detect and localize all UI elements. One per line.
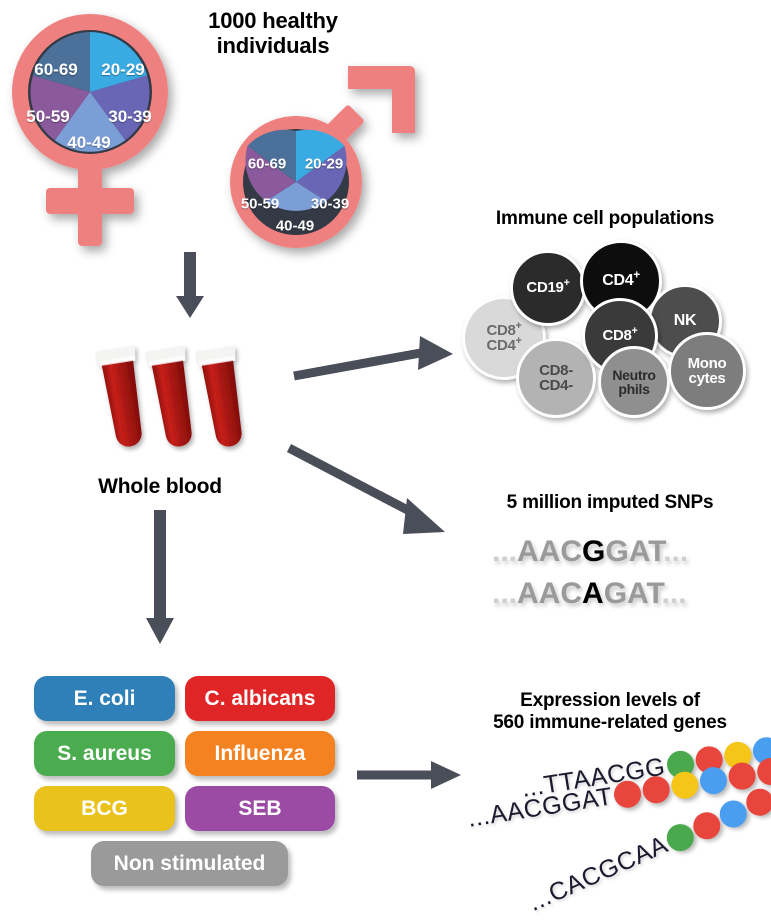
snp-1-variant: G [582,535,605,568]
snp-1-lead: ... [492,535,517,568]
snp-2-tail: ... [661,577,686,610]
snp-1-post: GAT [605,535,663,568]
snp-2-lead: ... [492,577,517,610]
female-age-label-50-59: 50-59 [26,107,69,127]
male-age-label-60-69: 60-69 [248,156,286,173]
female-age-label-20-29: 20-29 [101,60,144,80]
blood-tubes [95,338,255,458]
arrow-stimulations-to-expression [355,755,465,795]
snp-sequence-1: ...AACGGAT... [492,535,688,569]
stimulation-c-albicans[interactable]: C. albicans [185,676,335,721]
cell-label-nk: NK [674,313,697,329]
cell-label-cd8pos: CD8+ [602,328,637,343]
bead-blue [698,765,729,796]
male-age-label-30-39: 30-39 [311,196,349,213]
cohort-title-line-2: individuals [178,33,368,58]
bead-red [612,779,643,810]
immune-cell-cluster: CD8+CD4+ CD8-CD4- CD19+ CD4+ NK CD8+ Neu… [450,240,770,420]
cohort-title: 1000 healthy individuals [178,8,368,58]
stimulation-non-stimulated[interactable]: Non stimulated [91,841,288,886]
snps-title: 5 million imputed SNPs [460,492,760,514]
male-symbol: 20-29 30-39 40-49 50-59 60-69 [196,60,428,260]
bead-yellow [670,770,701,801]
bead-red [727,761,758,792]
snp-2-variant: A [582,577,604,610]
cell-label-cd19pos: CD19+ [526,280,569,295]
snp-sequence-2: ...AACAGAT... [492,577,686,611]
cell-cd19pos: CD19+ [510,250,586,326]
whole-blood-label: Whole blood [70,475,250,499]
snp-1-pre: AAC [517,535,582,568]
stimulation-s-aureus[interactable]: S. aureus [34,731,175,776]
arrow-blood-to-stimulations [130,510,190,650]
expression-title-line-2: 560 immune-related genes [455,712,765,734]
female-age-label-40-49: 40-49 [67,133,110,153]
immune-title: Immune cell populations [450,208,760,230]
cohort-title-line-1: 1000 healthy [178,8,368,33]
expression-title-line-1: Expression levels of [455,690,765,712]
male-age-label-50-59: 50-59 [241,196,279,213]
stimulation-seb[interactable]: SEB [185,786,335,831]
cell-label-neutrophils: Neutrophils [612,368,655,397]
bead-red [641,774,672,805]
stimulation-e-coli[interactable]: E. coli [34,676,175,721]
study-design-diagram: 1000 healthy individuals [0,0,771,922]
snp-2-pre: AAC [517,577,582,610]
stimulation-bcg[interactable]: BCG [34,786,175,831]
female-symbol: 20-29 30-39 40-49 50-59 60-69 [6,12,192,252]
cell-label-cd8neg-cd4neg: CD8-CD4- [539,363,573,394]
cell-monocytes: Monocytes [668,332,746,410]
male-age-label-40-49: 40-49 [276,218,314,235]
cell-label-cd8pos-cd4pos: CD8+CD4+ [486,323,521,354]
female-age-label-30-39: 30-39 [108,107,151,127]
venus-glyph [6,12,192,252]
expression-strand-3-sequence: ...CACGCAA [524,830,672,917]
test-tubes-icon [95,338,255,458]
arrow-blood-to-snps [285,440,465,550]
expression-title: Expression levels of 560 immune-related … [455,690,765,733]
female-age-label-60-69: 60-69 [34,60,77,80]
cell-neutrophils: Neutrophils [598,346,670,418]
snp-1-tail: ... [663,535,688,568]
arrow-blood-to-immune [290,330,460,390]
arrow-cohort-to-blood [160,252,220,322]
snp-2-post: GAT [604,577,662,610]
male-age-label-20-29: 20-29 [305,156,343,173]
cell-label-monocytes: Monocytes [688,356,727,387]
stimulation-influenza[interactable]: Influenza [185,731,335,776]
cell-label-cd4pos: CD4+ [602,273,640,289]
